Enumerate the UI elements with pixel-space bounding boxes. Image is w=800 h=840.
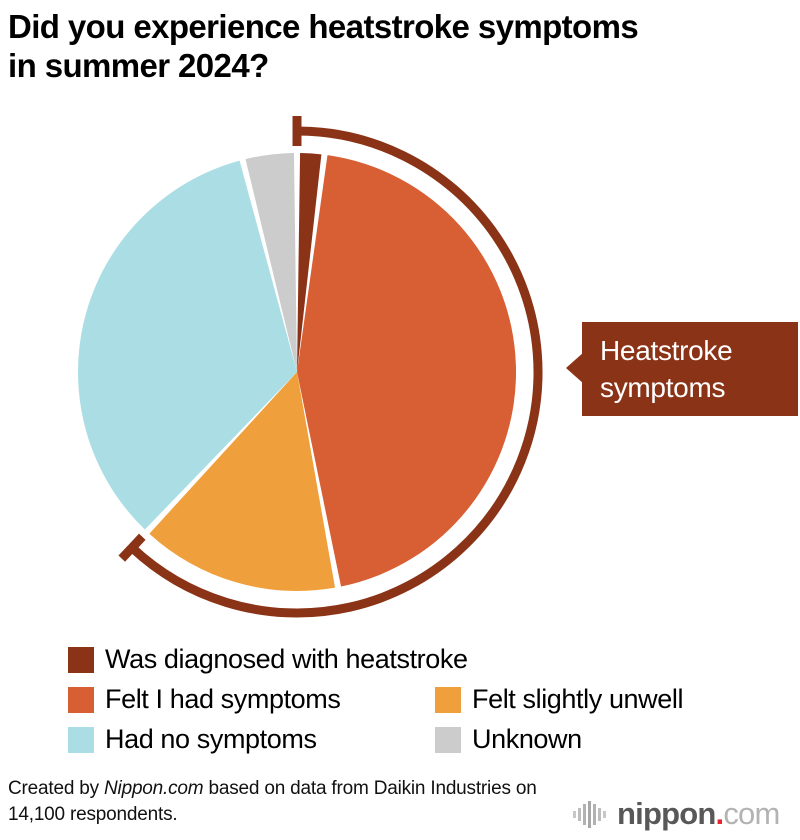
pie-chart [0, 108, 560, 628]
callout-line-1: Heatstroke [600, 332, 798, 369]
legend-label-0: Was diagnosed with heatstroke [105, 644, 468, 675]
sound-bars-icon [572, 800, 608, 828]
legend-item-was-diagnosed-with-heatstroke: Was diagnosed with heatstroke [68, 644, 468, 675]
callout-box: Heatstroke symptoms [582, 322, 798, 416]
source-note-brand: Nippon.com [104, 778, 203, 799]
source-note: Created by Nippon.com based on data from… [8, 776, 578, 827]
legend-swatch-icon-4 [435, 727, 461, 753]
legend-swatch-icon-1 [68, 687, 94, 713]
heatstroke-callout: Heatstroke symptoms [566, 322, 798, 416]
pie-chart-svg [0, 108, 560, 628]
logo-tld: com [723, 796, 779, 832]
nippon-com-logo: nippon.com [572, 797, 780, 831]
chart-legend: Was diagnosed with heatstroke Felt I had… [0, 640, 800, 762]
legend-swatch-icon-3 [68, 727, 94, 753]
legend-label-3: Had no symptoms [105, 724, 317, 755]
legend-item-felt-slightly-unwell: Felt slightly unwell [435, 684, 683, 715]
legend-label-1: Felt I had symptoms [105, 684, 340, 715]
legend-swatch-icon-2 [435, 687, 461, 713]
logo-dot: . [716, 796, 724, 832]
legend-item-unknown: Unknown [435, 724, 582, 755]
legend-item-had-no-symptoms: Had no symptoms [68, 724, 317, 755]
pie-slice-group [78, 153, 516, 591]
callout-line-2: symptoms [600, 369, 798, 406]
legend-label-2: Felt slightly unwell [472, 684, 683, 715]
source-note-prefix: Created by [8, 778, 104, 799]
legend-label-4: Unknown [472, 724, 582, 755]
page-title: Did you experience heatstroke symptoms i… [8, 8, 792, 85]
legend-swatch-icon-0 [68, 647, 94, 673]
legend-item-felt-i-had-symptoms: Felt I had symptoms [68, 684, 340, 715]
logo-wordmark: nippon [617, 796, 716, 832]
